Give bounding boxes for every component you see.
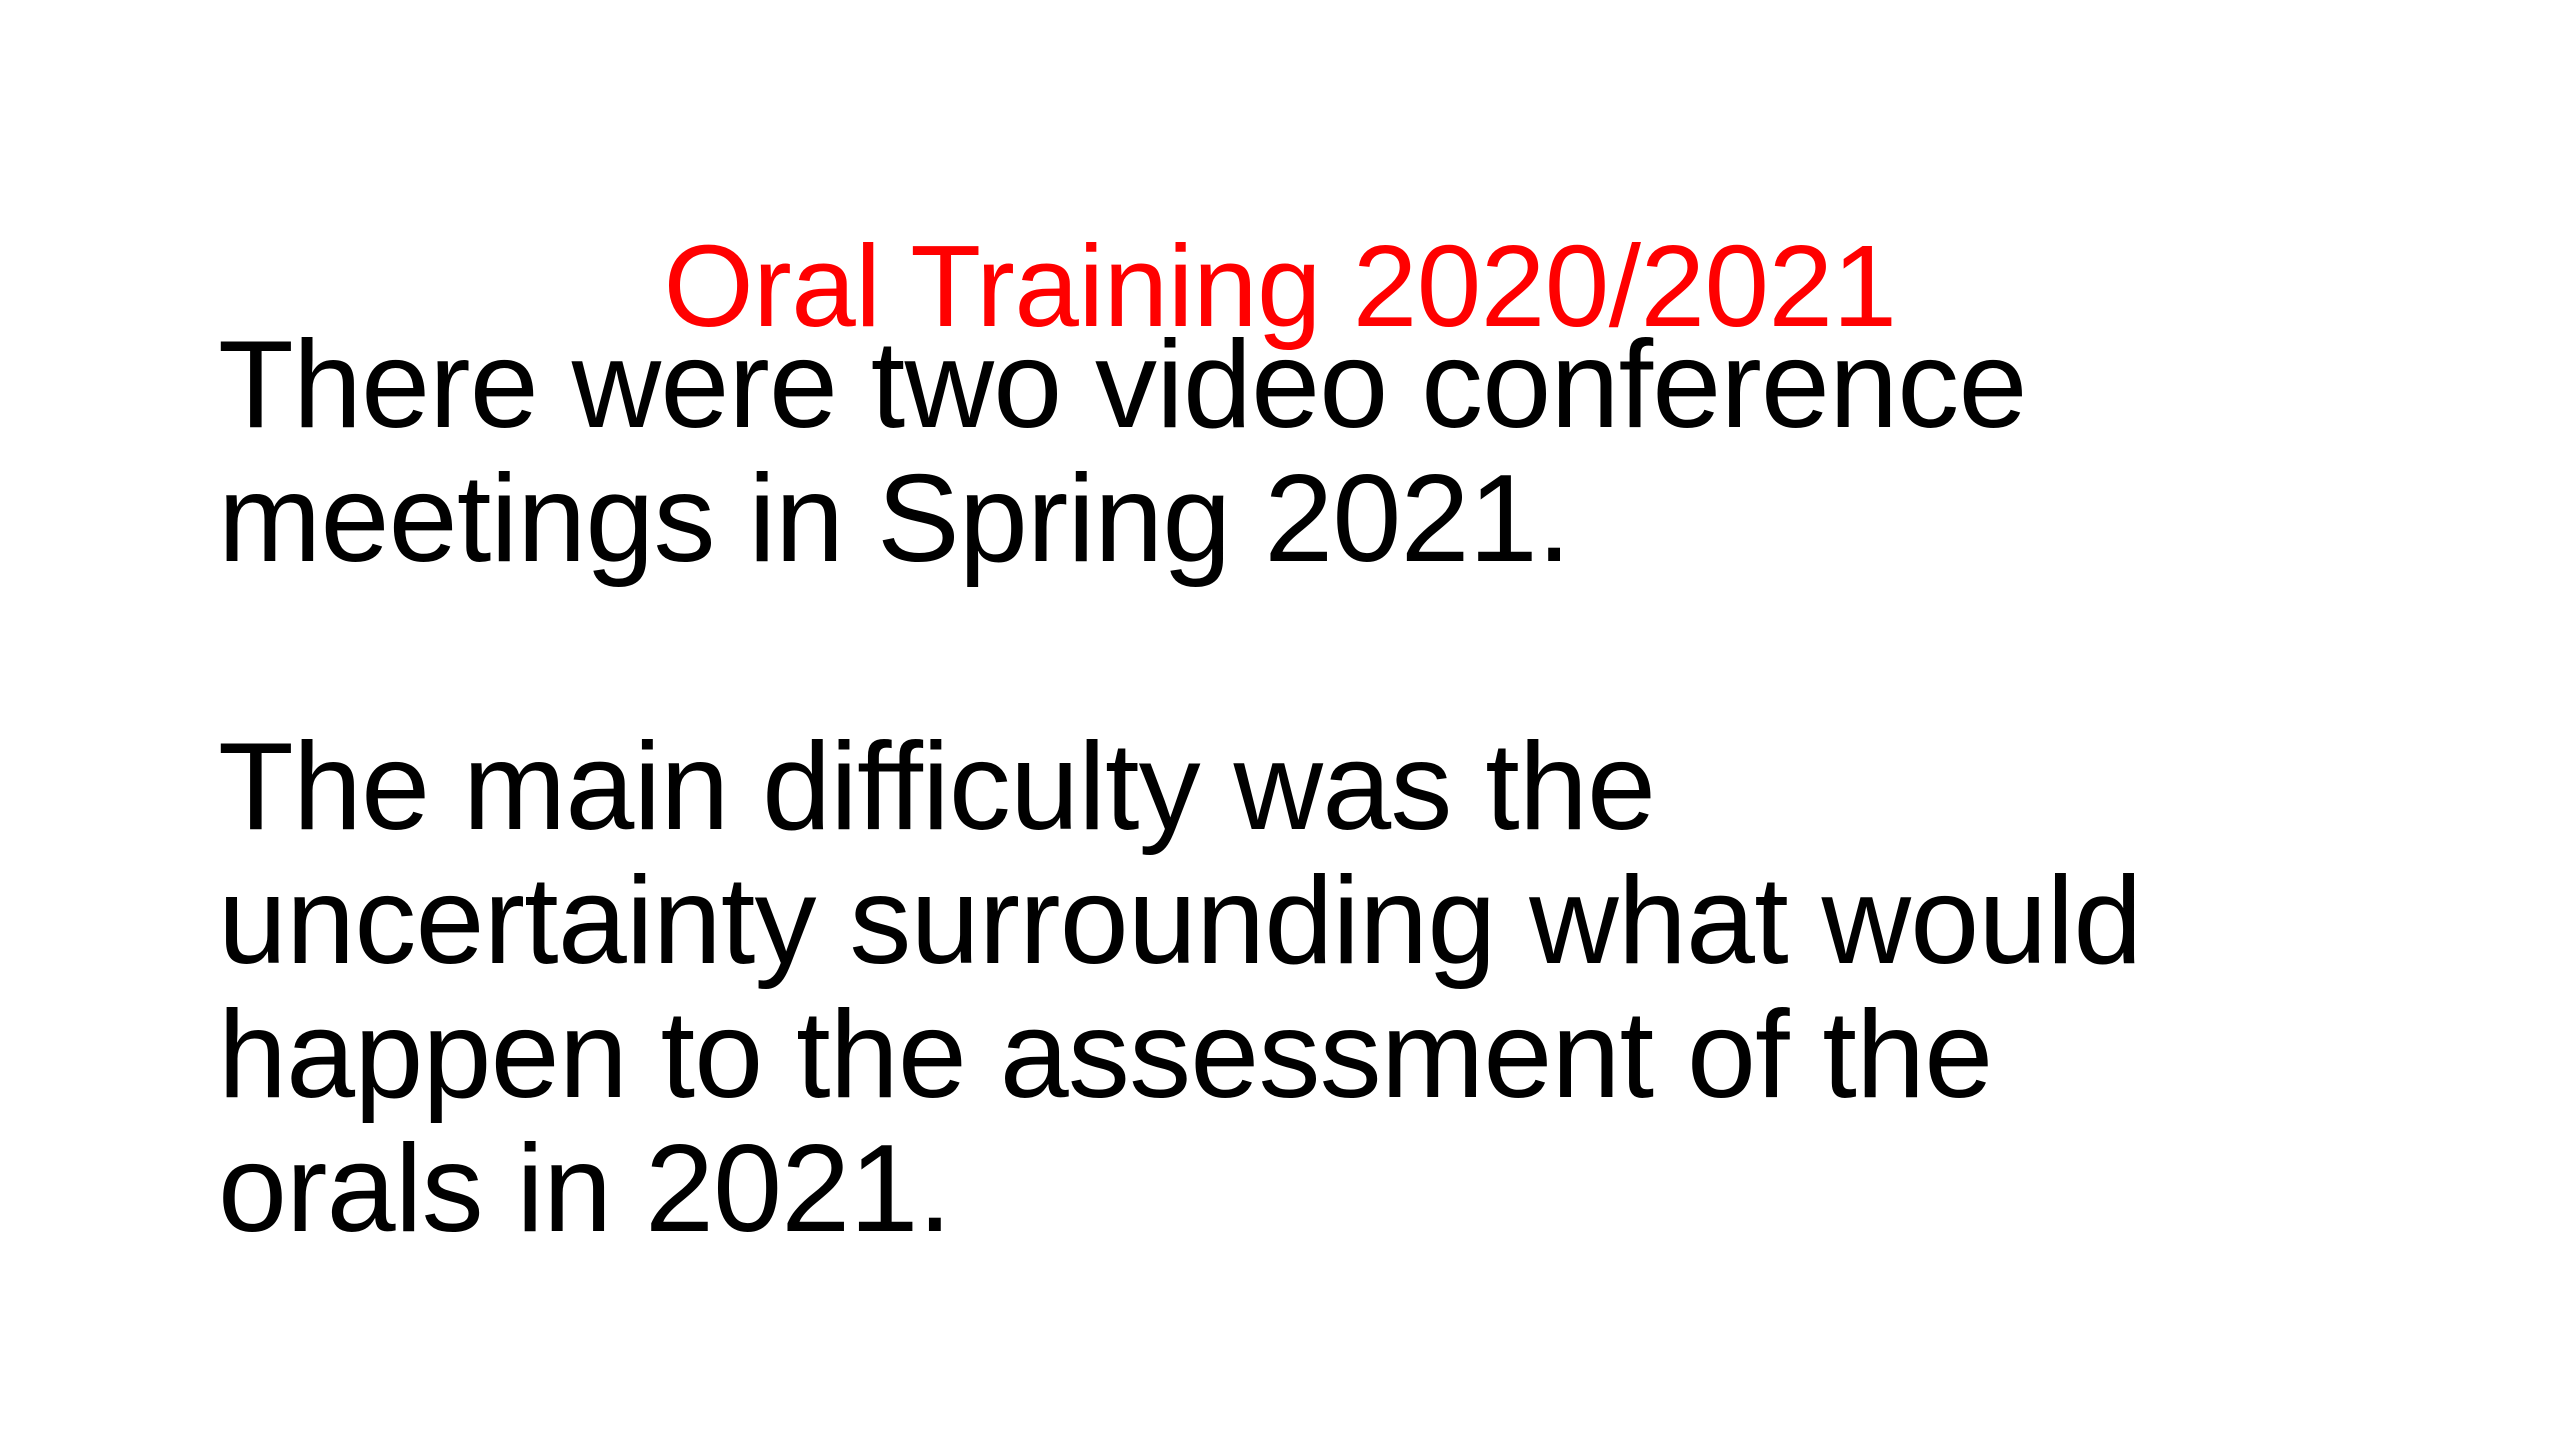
body-paragraph-1: There were two video conference meetings… <box>218 318 2278 586</box>
paragraph-spacer <box>218 586 2278 720</box>
body-paragraph-2: The main difficulty was the uncertainty … <box>218 720 2278 1256</box>
slide-body: There were two video conference meetings… <box>218 318 2278 1256</box>
presentation-slide: Oral Training 2020/2021 There were two v… <box>0 0 2560 1440</box>
